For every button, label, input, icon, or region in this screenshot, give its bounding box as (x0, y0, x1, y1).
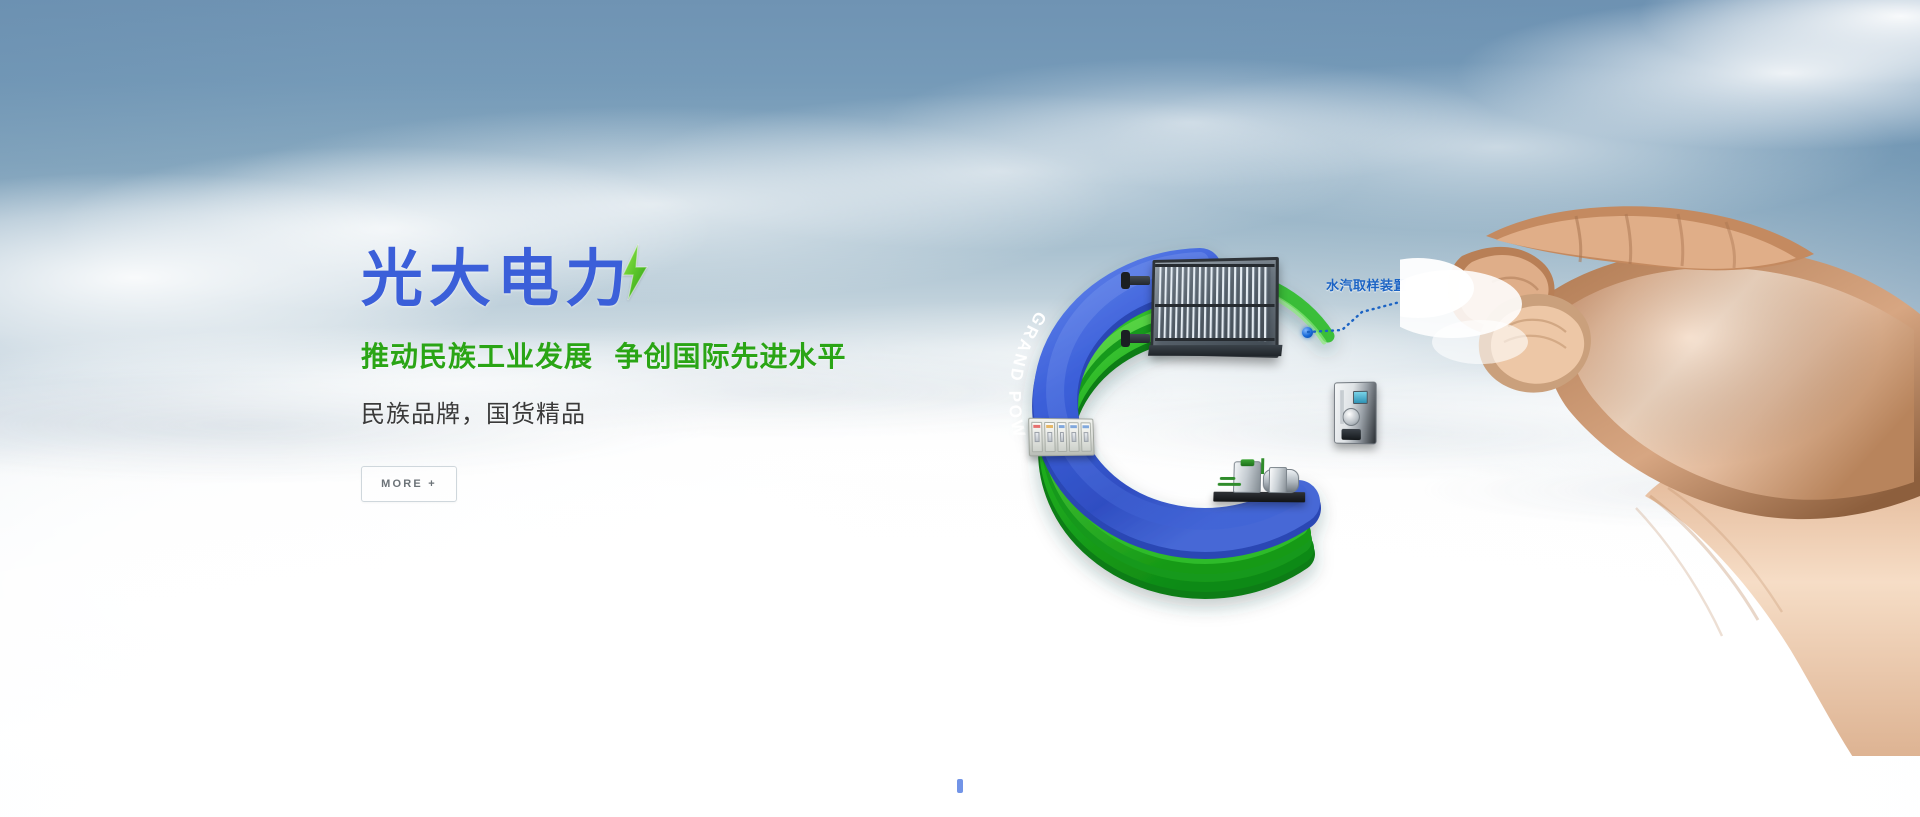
carousel-indicator[interactable] (957, 779, 963, 793)
brand-title: 光大电力 (361, 248, 633, 310)
hand-highlight (1567, 268, 1914, 500)
rack-rail-mid (1155, 304, 1274, 307)
callout-label-text: 水汽取样装置 (1326, 275, 1407, 294)
more-button[interactable]: MORE + (361, 466, 457, 502)
rack-rail-top (1155, 264, 1274, 267)
hand-svg (1400, 196, 1920, 756)
hero-copy-block: 光大电力 推动民族工业发展 争创国际先进水平 民族品牌，国货精品 MORE + (361, 248, 981, 502)
cabinet-cell (1081, 422, 1092, 451)
skid-tank-c (1269, 467, 1287, 493)
brand-title-text: 光大电力 (361, 242, 633, 315)
skid-deck (1213, 492, 1305, 503)
cabinet-cell (1056, 422, 1067, 452)
hero-tagline: 推动民族工业发展 争创国际先进水平 (361, 340, 981, 374)
analyzer-pump (1342, 429, 1361, 440)
carousel-dot[interactable] (957, 779, 963, 793)
rack-tubes (1158, 264, 1271, 341)
water-treatment-skid (1213, 450, 1305, 502)
dotted-leader-line (1300, 286, 1410, 342)
hero-subline: 民族品牌，国货精品 (361, 400, 981, 429)
skid-riser (1261, 458, 1264, 474)
cabinet-cell (1031, 422, 1042, 452)
control-cabinet (1028, 418, 1094, 457)
skid-pipe-lower (1220, 477, 1236, 480)
lightning-bolt-icon (618, 242, 652, 302)
hand-holding-cloud (1400, 196, 1920, 756)
hero-banner: 光大电力 推动民族工业发展 争创国际先进水平 民族品牌，国货精品 MORE + (0, 0, 1920, 817)
skid-pipe-upper (1218, 483, 1241, 486)
rack-valve-upper (1128, 276, 1150, 285)
skid-valve-head (1241, 459, 1255, 466)
analyzer-screen (1353, 391, 1368, 404)
callout-label: 水汽取样装置 (1326, 275, 1407, 294)
rack-rail-bottom (1155, 338, 1274, 341)
rack-base (1148, 345, 1282, 356)
steam-sampling-rack (1148, 258, 1278, 356)
cabinet-cell (1044, 422, 1055, 452)
rack-valve-lower (1128, 334, 1150, 343)
cabinet-cells (1031, 422, 1091, 452)
analyzer-dial (1342, 408, 1359, 426)
cabinet-cell (1069, 422, 1080, 452)
analyzer-cabinet (1334, 382, 1377, 445)
pinched-cloud (1432, 320, 1528, 364)
